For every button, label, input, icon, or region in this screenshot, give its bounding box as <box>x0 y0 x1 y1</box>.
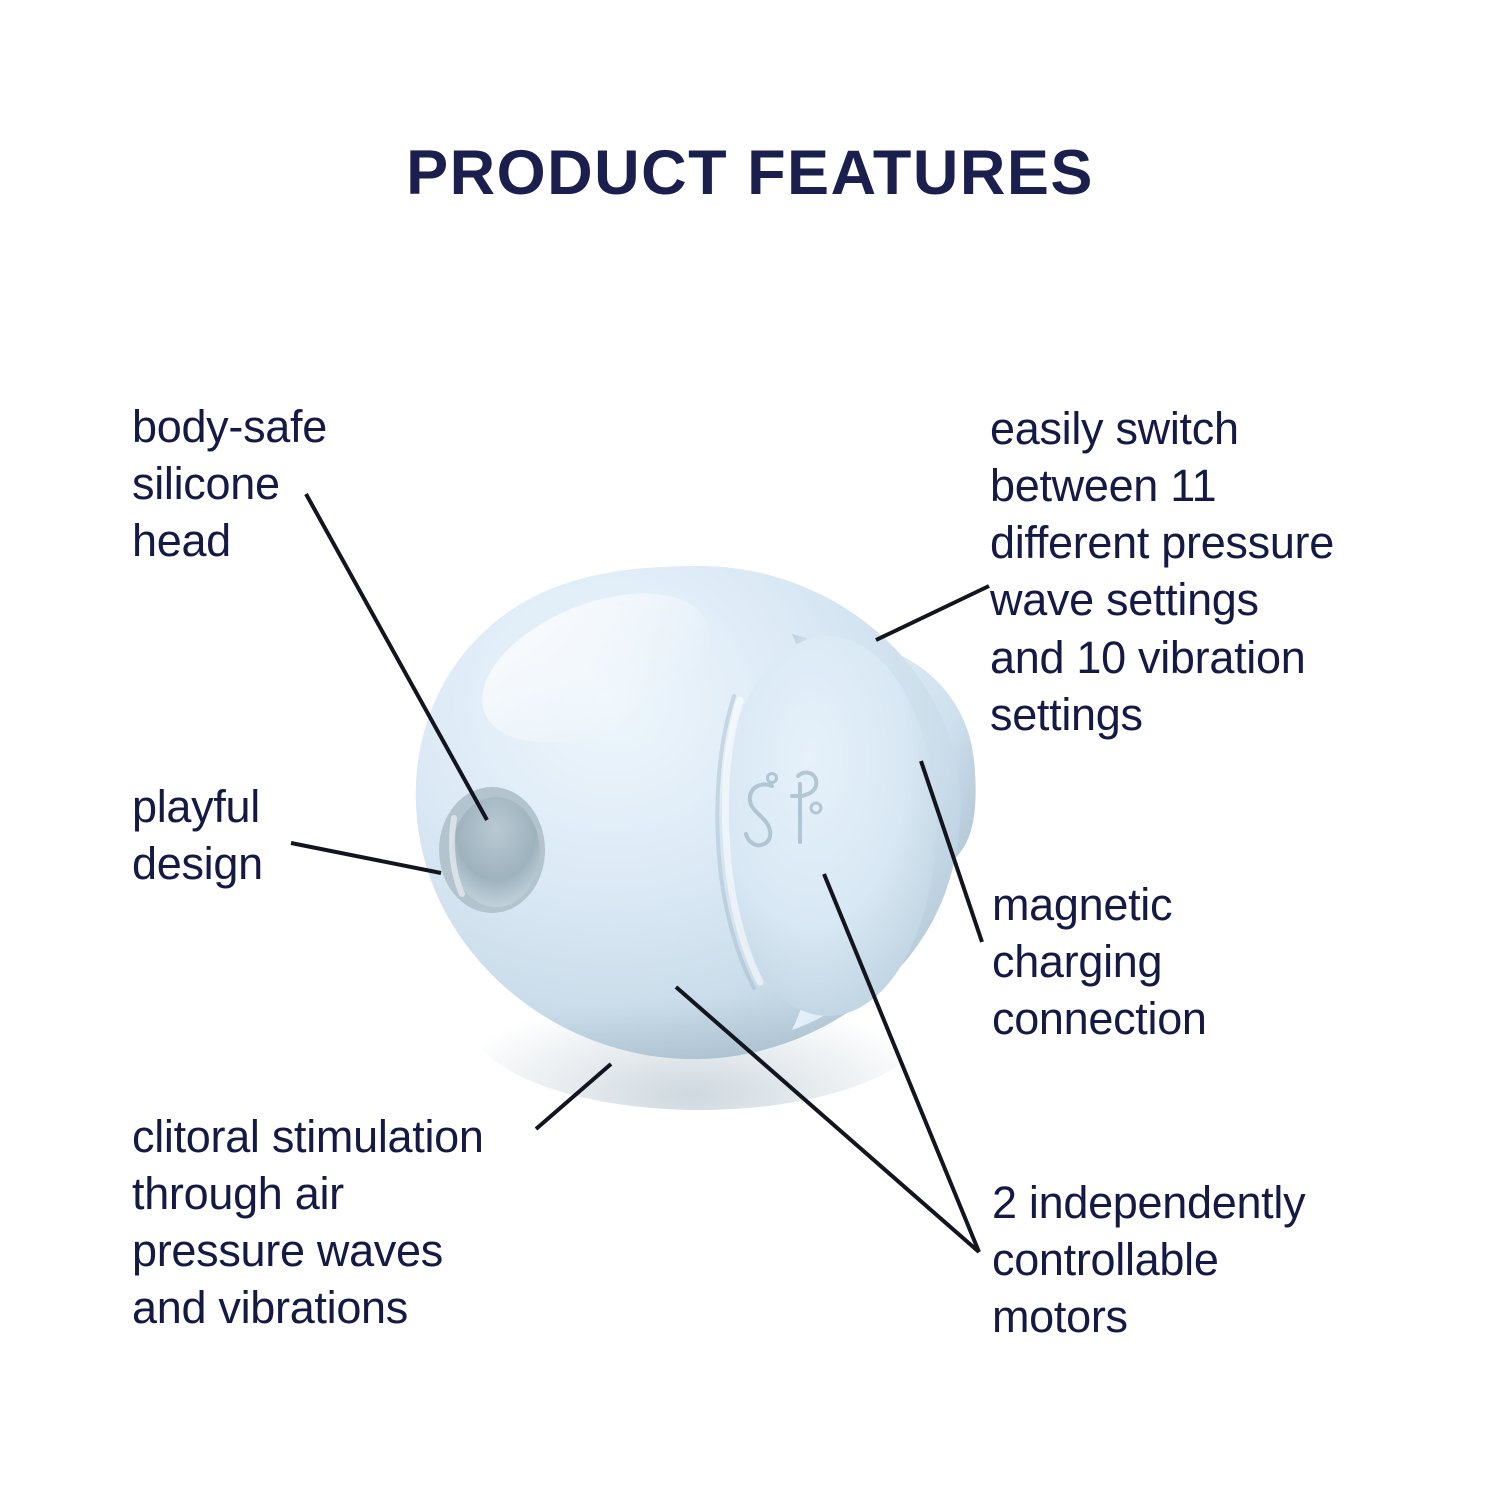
product-illustration <box>400 550 1020 1110</box>
callout-body-safe-silicone-head: body-safe silicone head <box>132 398 327 569</box>
callout-independently-controllable-motors: 2 independently controllable motors <box>992 1174 1305 1345</box>
callout-clitoral-stimulation: clitoral stimulation through air pressur… <box>132 1108 484 1337</box>
callout-playful-design: playful design <box>132 778 263 892</box>
product-image <box>400 550 1020 1110</box>
product-features-infographic: PRODUCT FEATURES <box>0 0 1500 1500</box>
air-pulse-opening <box>452 797 540 907</box>
callout-magnetic-charging-connection: magnetic charging connection <box>992 876 1207 1047</box>
page-title: PRODUCT FEATURES <box>0 142 1500 205</box>
callout-pressure-wave-settings: easily switch between 11 different press… <box>990 400 1334 743</box>
